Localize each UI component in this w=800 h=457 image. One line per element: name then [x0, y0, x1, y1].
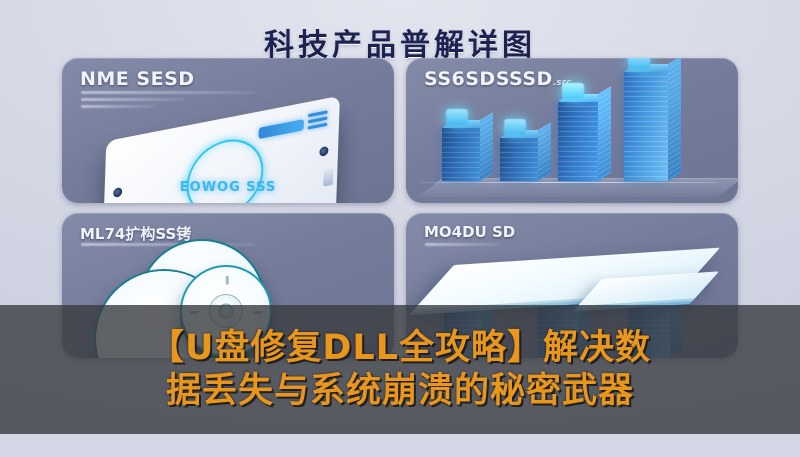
nvme-ssd-card-watermark: EOWOG SSS: [180, 180, 276, 195]
chart-bar: [624, 71, 668, 181]
bar-glow-icon: [504, 119, 526, 135]
footer-strip: [0, 434, 800, 457]
ssd-logo-badge: [259, 119, 305, 139]
ssd-vent-lines: [307, 110, 327, 132]
chart-bar: [442, 127, 480, 181]
chart-bar: [500, 137, 538, 181]
screw-icon: [113, 187, 122, 198]
chart-axis: [420, 182, 716, 184]
chart-bar: [558, 101, 598, 181]
title-overlay-scrim: [0, 305, 800, 434]
poster-canvas: 科技产品普解详图 NME SESD: [0, 0, 800, 457]
nvme-ssd-card[interactable]: NME SESD: [62, 58, 394, 203]
bar-chart: [406, 85, 738, 203]
bar-glow-icon: [562, 83, 584, 99]
ssd-connector-port: [323, 168, 333, 186]
capacity-bars-card[interactable]: SS6SDSSSD.src: [406, 58, 738, 203]
hub-tick: [226, 276, 229, 285]
bar-glow-icon: [446, 109, 468, 125]
screw-icon: [319, 146, 328, 157]
bar-glow-icon: [628, 58, 650, 69]
